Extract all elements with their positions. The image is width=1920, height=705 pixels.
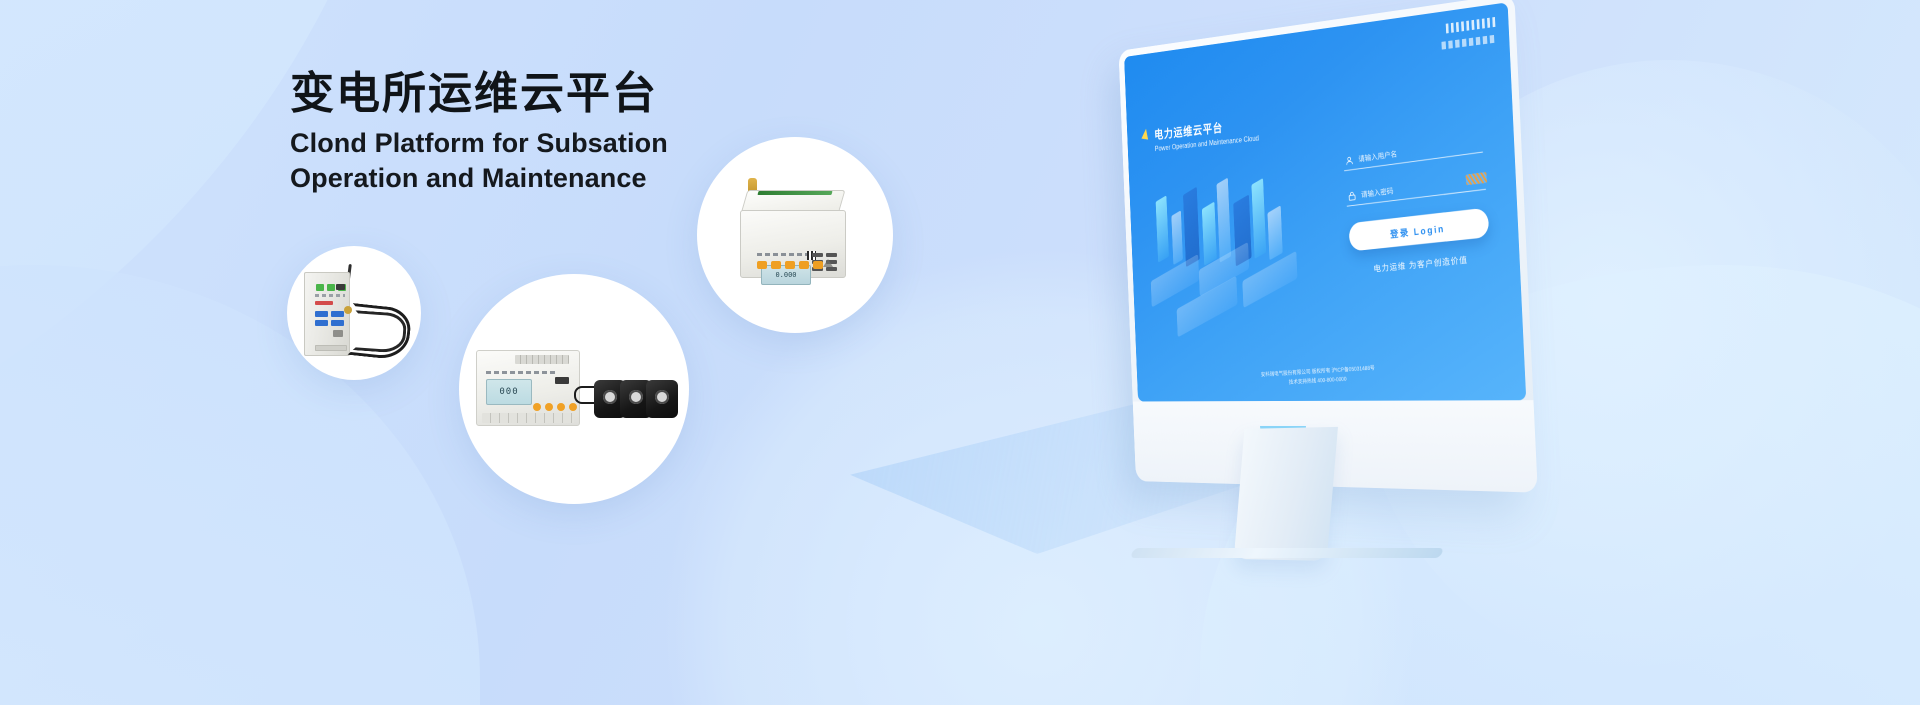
city-building [1156, 195, 1169, 262]
device-buttons [757, 261, 823, 269]
login-form[interactable]: 请输入用户名 请输入密码 登录 Login 电力运维 为客户创造价值 [1343, 133, 1492, 277]
device-button [785, 261, 795, 269]
city-building [1217, 178, 1232, 263]
device-button [757, 261, 767, 269]
page-title-chinese: 变电所运维云平台 [290, 68, 890, 120]
lock-icon [1347, 190, 1356, 201]
monitor-stand-base [1130, 548, 1444, 558]
login-button-label: 登录 Login [1390, 220, 1446, 240]
meter-lcd-display: 000 [486, 379, 532, 405]
led-indicator [826, 253, 837, 257]
brand-mark [315, 301, 333, 305]
screen-title-block: 电力运维云平台 Power Operation and Maintenance … [1154, 114, 1259, 153]
port-connector-icon [336, 284, 345, 290]
logo-wordmark-icon [1441, 35, 1497, 50]
module-button [331, 320, 344, 326]
meter-buttons [533, 403, 577, 411]
monitor-screen[interactable]: 电力运维云平台 Power Operation and Maintenance … [1124, 2, 1526, 401]
username-field[interactable]: 请输入用户名 [1343, 133, 1483, 171]
top-terminal-block [515, 355, 569, 364]
led-indicator [327, 284, 335, 291]
screen-content: 电力运维云平台 Power Operation and Maintenance … [1124, 2, 1526, 401]
device-label-strip [757, 253, 809, 256]
city-building [1267, 205, 1282, 260]
desktop-monitor: 电力运维云平台 Power Operation and Maintenance … [1010, 0, 1570, 612]
led-indicator [316, 284, 324, 291]
monitor-frame: 电力运维云平台 Power Operation and Maintenance … [1119, 0, 1538, 493]
pcb-edge-strip [757, 191, 832, 195]
module-label-strip [315, 294, 345, 297]
current-transformer [646, 380, 678, 418]
module-button [315, 311, 328, 317]
module-button [315, 320, 328, 326]
monitor-stand-neck [1234, 427, 1338, 561]
username-placeholder: 请输入用户名 [1358, 149, 1397, 165]
product-bubble-energy-meter[interactable]: 000 [459, 274, 689, 504]
lightning-bolt-icon [1141, 128, 1149, 139]
device-display-value: 0.000 [775, 271, 796, 279]
meter-button [545, 403, 553, 411]
din-rail-monitoring-device-image: 0.000 [734, 176, 856, 294]
password-placeholder: 请输入密码 [1361, 186, 1394, 200]
device-button [799, 261, 809, 269]
isometric-city-illustration [1139, 150, 1312, 339]
wireless-communication-module-image [298, 266, 410, 360]
logo-mark-icon [1446, 17, 1497, 34]
city-building [1202, 202, 1217, 266]
meter-button [533, 403, 541, 411]
meter-body: 000 [476, 350, 580, 426]
meter-label-strip [486, 371, 556, 374]
product-bubble-wireless-module[interactable] [287, 246, 421, 380]
acrel-logo [1441, 14, 1497, 50]
warning-triangle-icon [823, 259, 833, 267]
city-building [1171, 210, 1183, 265]
meter-button [557, 403, 565, 411]
module-button [331, 311, 344, 317]
led-indicator [812, 253, 823, 257]
led-indicator [826, 267, 837, 271]
device-button [771, 261, 781, 269]
login-tagline: 电力运维 为客户创造价值 [1351, 251, 1492, 277]
module-body [304, 272, 350, 356]
ce-mark-icon [333, 330, 343, 337]
city-building [1251, 178, 1266, 259]
user-icon [1345, 155, 1354, 166]
meter-display-value: 000 [499, 387, 518, 397]
meter-button [569, 403, 577, 411]
terminal-block [315, 345, 347, 351]
hero-banner: 变电所运维云平台 Clond Platform for Subsation Op… [0, 0, 1920, 705]
device-body: 0.000 [740, 210, 846, 278]
product-bubble-din-rail-monitor[interactable]: 0.000 [697, 137, 893, 333]
device-button [813, 261, 823, 269]
screen-footer: 安科瑞电气股份有限公司 版权所有 沪ICP备05031488号 技术支持热线 4… [1137, 354, 1525, 396]
ir-port-icon [555, 377, 569, 384]
bottom-terminal-block [482, 413, 574, 423]
module-buttons [315, 311, 344, 326]
three-phase-energy-meter-image: 000 [476, 346, 672, 432]
login-button[interactable]: 登录 Login [1348, 207, 1490, 251]
